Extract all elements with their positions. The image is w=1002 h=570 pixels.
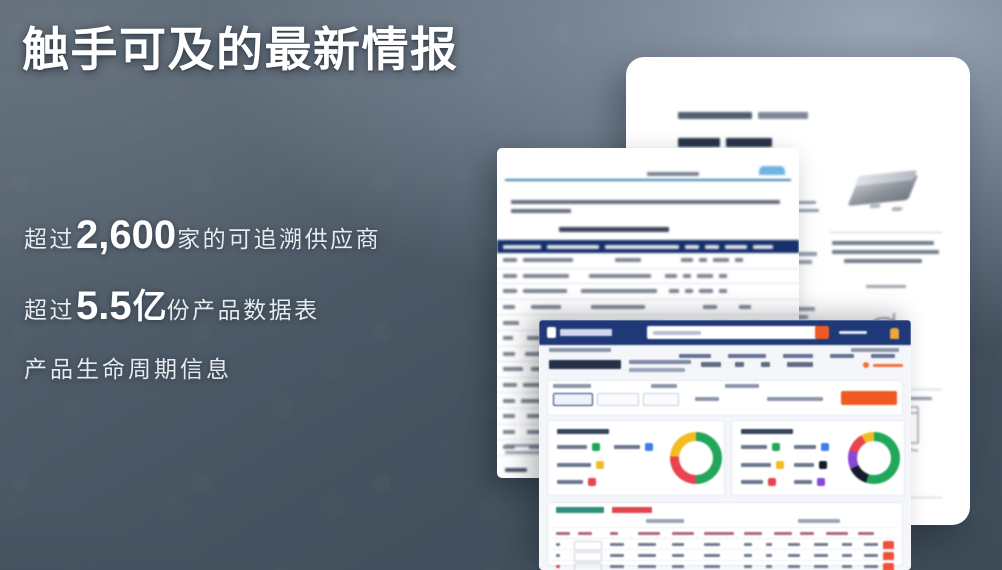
kpi-value-3 xyxy=(761,362,770,367)
user-avatar[interactable] xyxy=(863,362,869,368)
page-subtitle-line-1 xyxy=(629,360,691,364)
table-row xyxy=(497,300,799,316)
doc-header-text xyxy=(647,172,699,176)
marketing-copy: 触手可及的最新情报 超过 2,600 家的可追溯供应商 超过 5.5 亿 份产品… xyxy=(0,0,520,570)
stats-list: 超过 2,600 家的可追溯供应商 超过 5.5 亿 份产品数据表 产品生命周期… xyxy=(24,212,381,384)
legend-item[interactable] xyxy=(794,478,825,486)
lifecycle-donut-chart[interactable] xyxy=(670,432,722,484)
doc-title-type xyxy=(726,138,772,147)
bom-dashboard-content xyxy=(539,320,911,570)
legend-item[interactable] xyxy=(794,443,829,451)
nav-link[interactable] xyxy=(679,354,711,358)
doc-part-number xyxy=(678,112,752,119)
filter-label-3 xyxy=(725,384,759,388)
legend-item[interactable] xyxy=(794,461,827,469)
nav-link[interactable] xyxy=(871,354,895,358)
header-rule xyxy=(505,179,791,181)
page-subtitle-line-2 xyxy=(629,368,685,372)
nav-link[interactable] xyxy=(830,354,854,358)
legend-item[interactable] xyxy=(741,478,776,486)
menu-icon[interactable] xyxy=(839,331,867,334)
breadcrumb-actions[interactable] xyxy=(851,348,899,352)
filter-summary xyxy=(767,397,823,401)
stat-suffix: 份产品数据表 xyxy=(167,291,320,325)
notification-bell-icon[interactable] xyxy=(890,328,899,339)
table-row xyxy=(497,269,799,285)
legend-item[interactable] xyxy=(614,443,653,451)
doc-intro-text xyxy=(511,200,785,218)
table-group-header-1 xyxy=(646,519,684,523)
sourcing-risk-donut-chart[interactable] xyxy=(848,432,900,484)
legend-item[interactable] xyxy=(557,478,596,486)
legend-item[interactable] xyxy=(557,443,600,451)
divider xyxy=(830,232,942,233)
page-title: 触手可及的最新情报 xyxy=(22,22,459,77)
filter-chip[interactable] xyxy=(643,393,679,406)
apply-filter-button[interactable] xyxy=(841,391,897,405)
search-button[interactable] xyxy=(815,326,829,339)
filter-label-2 xyxy=(651,384,677,388)
spec-table-title xyxy=(559,227,669,232)
delete-row-button[interactable] xyxy=(883,563,894,570)
nav-link[interactable] xyxy=(783,354,813,358)
stat-number-unit: 亿 xyxy=(133,279,167,328)
stat-prefix: 超过 xyxy=(24,220,75,254)
stat-suppliers: 超过 2,600 家的可追溯供应商 xyxy=(24,212,381,257)
app-logo-icon[interactable] xyxy=(547,327,556,338)
doc-title-pnp xyxy=(678,138,720,147)
filter-value xyxy=(695,397,719,401)
table-group-header-2 xyxy=(798,519,840,523)
filter-chip-selected[interactable] xyxy=(553,393,593,406)
app-logo-text xyxy=(560,329,612,336)
stat-number: 2,600 xyxy=(76,213,176,258)
lifecycle-status-panel xyxy=(547,420,725,496)
filter-label-1 xyxy=(553,384,591,388)
transistor-package-image xyxy=(848,169,926,217)
stat-number: 5.5 xyxy=(76,284,132,329)
bom-line-items-table[interactable] xyxy=(547,502,903,566)
kpi-value-2 xyxy=(735,362,744,367)
page-title xyxy=(549,360,621,369)
hero-banner: 触手可及的最新情报 超过 2,600 家的可追溯供应商 超过 5.5 亿 份产品… xyxy=(0,0,1002,570)
legend-item[interactable] xyxy=(741,461,784,469)
table-row xyxy=(497,253,799,269)
legend-item[interactable] xyxy=(741,443,780,451)
stat-prefix: 超过 xyxy=(24,291,75,325)
table-tab[interactable] xyxy=(612,507,652,513)
filter-chip[interactable] xyxy=(597,393,639,406)
vendor-logo xyxy=(759,166,785,175)
doc-part-suffix xyxy=(758,112,808,119)
bom-dashboard-card[interactable] xyxy=(539,320,911,570)
spec-table-header xyxy=(497,240,799,253)
stat-datasheets: 超过 5.5 亿 份产品数据表 xyxy=(24,279,381,328)
package-caption xyxy=(832,241,940,268)
nav-link[interactable] xyxy=(728,354,766,358)
panel-title xyxy=(741,429,793,434)
legend-item[interactable] xyxy=(557,461,604,469)
table-tab-active[interactable] xyxy=(556,507,604,513)
table-row xyxy=(497,284,799,300)
schematic-label xyxy=(866,285,906,288)
panel-title xyxy=(557,429,609,434)
kpi-value-4 xyxy=(787,362,813,367)
kpi-value-1 xyxy=(701,362,721,367)
breadcrumb[interactable] xyxy=(549,348,611,352)
navbar-links[interactable] xyxy=(679,354,895,358)
stat-suffix: 家的可追溯供应商 xyxy=(177,220,381,254)
stat-suffix: 产品生命周期信息 xyxy=(24,350,232,384)
stat-lifecycle: 产品生命周期信息 xyxy=(24,350,381,384)
user-name-label xyxy=(873,364,903,367)
table-row[interactable] xyxy=(552,560,898,570)
sourcing-risk-panel xyxy=(731,420,905,496)
search-placeholder xyxy=(653,331,701,335)
